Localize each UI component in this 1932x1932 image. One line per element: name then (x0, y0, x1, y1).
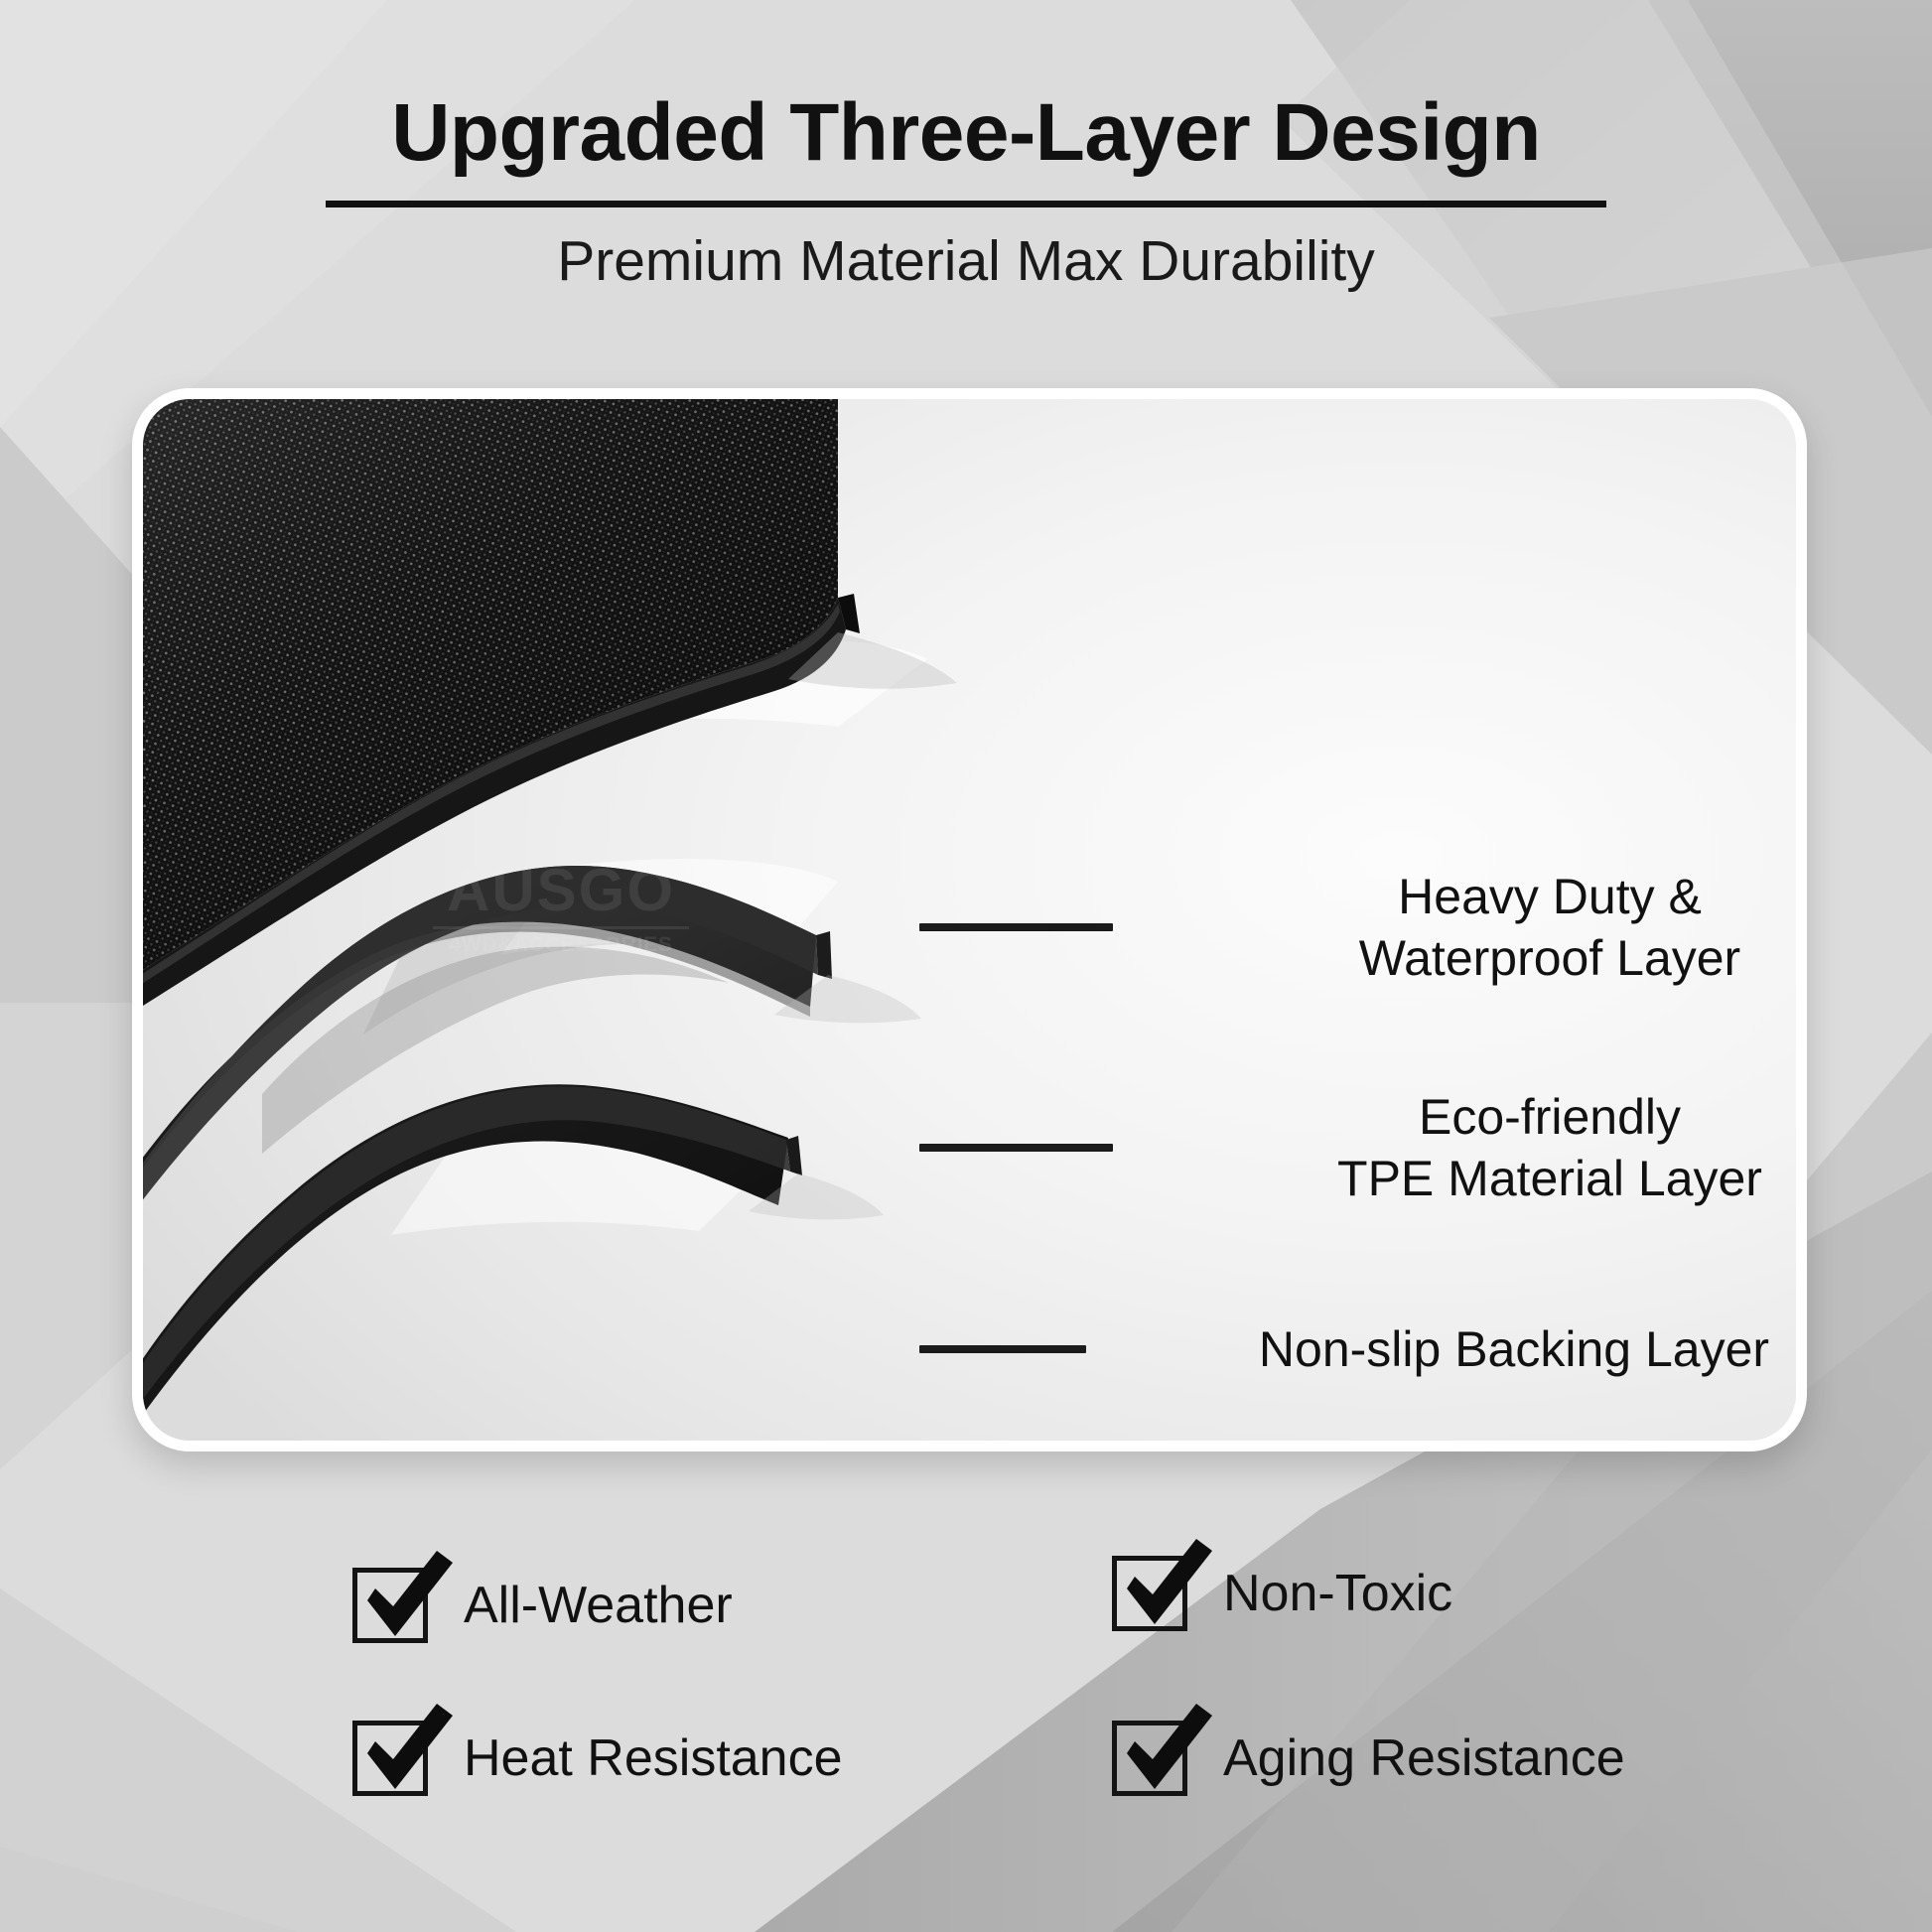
feature-checklist: All-Weather Non-Toxic Heat Resistance (0, 1544, 1932, 1871)
feature-item-non-toxic[interactable]: Non-Toxic (1112, 1556, 1452, 1631)
product-image-panel: AUSGO 4WD&ACCESSORIES Heavy Duty & Water… (132, 388, 1807, 1451)
feature-label: Non-Toxic (1223, 1568, 1452, 1619)
page-title: Upgraded Three-Layer Design (0, 0, 1932, 179)
header: Upgraded Three-Layer Design Premium Mate… (0, 0, 1932, 294)
feature-label: All-Weather (464, 1580, 733, 1631)
checkbox-heat-resistance[interactable] (352, 1721, 428, 1796)
check-icon (355, 1702, 459, 1805)
checkbox-all-weather[interactable] (352, 1568, 428, 1643)
title-divider (326, 201, 1606, 207)
page-subtitle: Premium Material Max Durability (0, 229, 1932, 295)
feature-label: Heat Resistance (464, 1732, 843, 1784)
callout-heavy-duty-waterproof: Heavy Duty & Waterproof Layer (919, 866, 1807, 989)
checkbox-non-toxic[interactable] (1112, 1556, 1187, 1631)
feature-label: Aging Resistance (1223, 1732, 1625, 1784)
layered-mat-illustration: AUSGO 4WD&ACCESSORIES Heavy Duty & Water… (143, 399, 1796, 1441)
callout-label: Non-slip Backing Layer (1122, 1318, 1807, 1380)
callout-non-slip-backing: Non-slip Backing Layer (919, 1318, 1807, 1380)
checkbox-aging-resistance[interactable] (1112, 1721, 1187, 1796)
leader-line-icon (919, 1144, 1113, 1152)
leader-line-icon (919, 923, 1113, 931)
callout-label: Eco-friendly TPE Material Layer (1173, 1086, 1807, 1209)
check-icon (1115, 1537, 1218, 1640)
callout-eco-friendly-tpe: Eco-friendly TPE Material Layer (919, 1086, 1807, 1209)
feature-item-aging-resistance[interactable]: Aging Resistance (1112, 1721, 1625, 1796)
check-icon (355, 1549, 459, 1652)
infographic-canvas: Upgraded Three-Layer Design Premium Mate… (0, 0, 1932, 1932)
feature-item-all-weather[interactable]: All-Weather (352, 1568, 733, 1643)
check-icon (1115, 1702, 1218, 1805)
callout-label: Heavy Duty & Waterproof Layer (1173, 866, 1807, 989)
leader-line-icon (919, 1345, 1086, 1353)
feature-item-heat-resistance[interactable]: Heat Resistance (352, 1721, 843, 1796)
